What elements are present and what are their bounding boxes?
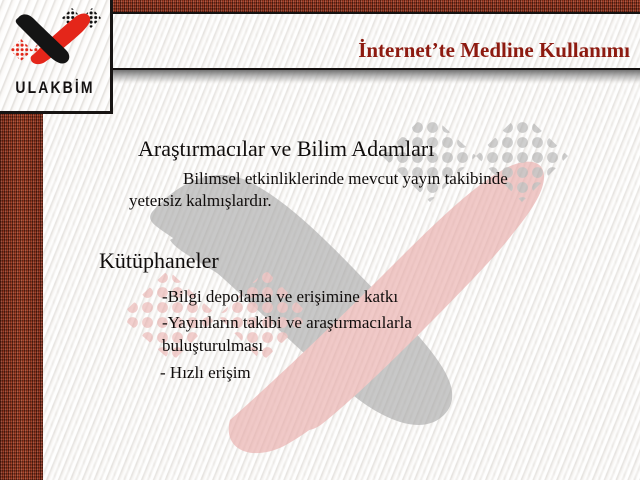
section-paragraph-researchers: Bilimsel etkinliklerinde mevcut yayın ta… — [129, 168, 549, 212]
bullet-2-line-1: -Yayınların takibi ve araştırmacılarla — [162, 313, 412, 332]
bullet-2-line-2: buluşturulması — [162, 336, 263, 355]
section-heading-libraries: Kütüphaneler — [99, 248, 219, 274]
presentation-slide: İnternet’te Medline Kullanımı — [0, 0, 640, 480]
slide-content: Araştırmacılar ve Bilim Adamları Bilimse… — [0, 0, 640, 480]
section-heading-researchers: Araştırmacılar ve Bilim Adamları — [138, 136, 434, 162]
bullet-item-2: -Yayınların takibi ve araştırmacılarla b… — [162, 311, 502, 357]
bullet-item-3: - Hızlı erişim — [160, 361, 500, 384]
bullet-item-1: -Bilgi depolama ve erişimine katkı — [162, 285, 562, 308]
paragraph-line-1: Bilimsel etkinliklerinde mevcut yayın — [183, 169, 440, 188]
